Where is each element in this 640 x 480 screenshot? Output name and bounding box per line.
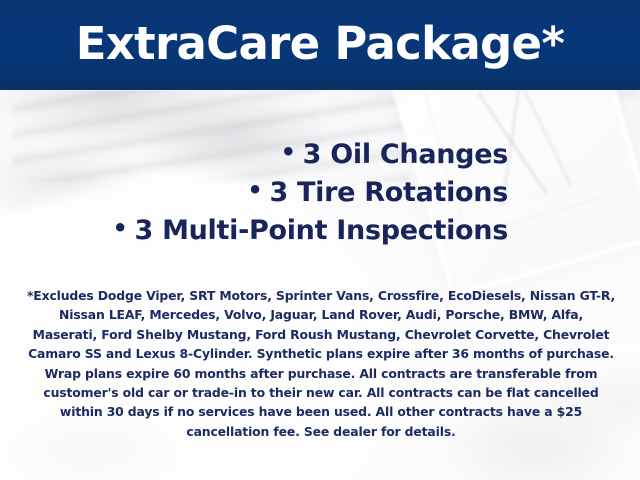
list-item: •3 Tire Rotations <box>0 174 508 212</box>
bullet-icon: • <box>112 216 127 240</box>
page-title: ExtraCare Package* <box>0 14 640 74</box>
benefit-label: 3 Oil Changes <box>303 139 508 170</box>
bullet-icon: • <box>247 178 262 202</box>
benefits-list: •3 Oil Changes •3 Tire Rotations •3 Mult… <box>0 136 508 250</box>
header-banner: ExtraCare Package* <box>0 0 640 90</box>
benefit-label: 3 Multi-Point Inspections <box>134 215 508 246</box>
benefit-label: 3 Tire Rotations <box>269 177 508 208</box>
disclaimer-text: *Excludes Dodge Viper, SRT Motors, Sprin… <box>26 286 616 441</box>
extracare-package-ad: ExtraCare Package* •3 Oil Changes •3 Tir… <box>0 0 640 480</box>
bullet-icon: • <box>281 140 296 164</box>
list-item: •3 Oil Changes <box>0 136 508 174</box>
list-item: •3 Multi-Point Inspections <box>0 212 508 250</box>
